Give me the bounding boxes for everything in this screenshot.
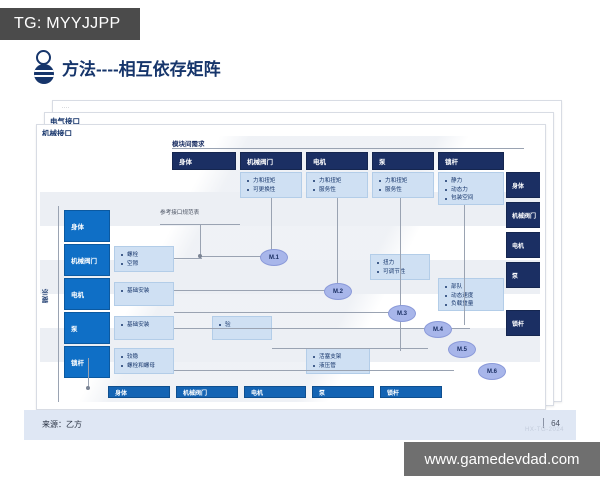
cell-item: 包装空间 (444, 194, 499, 203)
col-header-body[interactable]: 身体 (172, 152, 236, 170)
bottom-header-body[interactable]: 身体 (108, 386, 170, 398)
cell-item: 动态速度 (444, 292, 499, 301)
column-group-title: 模块间需求 (172, 138, 205, 148)
cell-pump-load[interactable]: 部队 动态速度 负载重量 (438, 278, 504, 311)
cell-item: 可更换性 (246, 186, 297, 195)
col-header-valve[interactable]: 机械阀门 (240, 152, 302, 170)
node-m6[interactable]: M.6 (478, 363, 506, 380)
cell-item: 基础安装 (120, 287, 169, 296)
connector-to-m3 (174, 312, 404, 313)
col-header-pump[interactable]: 泵 (372, 152, 434, 170)
row-group-rule (58, 206, 59, 402)
node-m4[interactable]: M.4 (424, 321, 452, 338)
right-header-lock[interactable]: 锁杆 (506, 310, 540, 336)
annotation-leader-drop (200, 224, 201, 258)
column-group-rule (172, 148, 524, 149)
cell-item: 服务性 (312, 186, 363, 195)
right-header-motor[interactable]: 电机 (506, 232, 540, 258)
row-header-body[interactable]: 身体 (64, 210, 110, 242)
interdependency-matrix: 模块间需求 提示 身体 机械阀门 电机 泵 锁杆 力和扭矩 可更换性 力和扭矩 … (40, 136, 540, 402)
logo-disc-shape (34, 64, 54, 84)
node-m3[interactable]: M.3 (388, 305, 416, 322)
cell-item: 部队 (444, 283, 499, 292)
col-header-motor[interactable]: 电机 (306, 152, 368, 170)
node-m1[interactable]: M.1 (260, 249, 288, 266)
bottom-header-motor[interactable]: 电机 (244, 386, 306, 398)
connector-to-m5 (272, 348, 428, 349)
tg-banner: TG: MYYJJPP (0, 8, 140, 40)
cell-valve-requirements[interactable]: 力和扭矩 可更换性 (240, 172, 302, 198)
connector-motor-down (337, 198, 338, 286)
cell-item: 负载重量 (444, 300, 499, 309)
row-header-motor[interactable]: 电机 (64, 278, 110, 310)
cell-item: 动态力 (444, 186, 499, 195)
bottom-header-lock[interactable]: 锁杆 (380, 386, 442, 398)
row-header-pump[interactable]: 泵 (64, 312, 110, 344)
footer-ghost-text: HX-TG-2024 (525, 427, 564, 433)
cell-item: 活塞支架 (312, 353, 365, 362)
connector-to-m2 (174, 290, 342, 291)
cell-item: 空隙 (120, 260, 169, 269)
footer-bar (24, 410, 576, 440)
col-header-lock[interactable]: 锁杆 (438, 152, 504, 170)
cell-item: 基础安装 (120, 321, 169, 330)
logo-ring-shape (36, 50, 51, 65)
cell-item: 力和扭矩 (378, 177, 429, 186)
connector-valve-down (271, 198, 272, 252)
cell-item: 较稳 (120, 353, 169, 362)
bottom-header-valve[interactable]: 机械阀门 (176, 386, 238, 398)
cell-item: 液压管 (312, 362, 365, 371)
node-m5[interactable]: M.5 (448, 341, 476, 358)
cell-body-motor[interactable]: 基础安装 (114, 282, 174, 306)
right-header-pump[interactable]: 泵 (506, 262, 540, 288)
footer-source: 来源：乙方 (42, 419, 82, 430)
row-header-lock[interactable]: 锁杆 (64, 346, 110, 378)
cell-motor-requirements[interactable]: 力和扭矩 服务性 (306, 172, 368, 198)
row-group-title: 提示 (42, 288, 52, 303)
cell-body-pump[interactable]: 基础安装 (114, 316, 174, 340)
card-back-label: .... (62, 104, 70, 110)
connector-pump-down (400, 198, 401, 308)
slide-title-row: 方法----相互依存矩阵 (34, 50, 221, 84)
bottom-left-leader-dot (86, 386, 90, 390)
connector-to-m1 (200, 256, 266, 257)
connector-to-m6 (174, 370, 454, 371)
bottom-left-leader (88, 358, 89, 388)
cell-item: 螺栓和螺母 (120, 362, 169, 371)
cell-item: 力和扭矩 (312, 177, 363, 186)
watermark-text: www.gamedevdad.com (424, 451, 579, 468)
cell-body-lock[interactable]: 较稳 螺栓和螺母 (114, 348, 174, 374)
right-header-body[interactable]: 身体 (506, 172, 540, 198)
cell-lock-requirements[interactable]: 静力 动态力 包装空间 (438, 172, 504, 205)
node-m2[interactable]: M.2 (324, 283, 352, 300)
right-header-valve[interactable]: 机械阀门 (506, 202, 540, 228)
cell-item: 力和扭矩 (246, 177, 297, 186)
cell-item: 静力 (444, 177, 499, 186)
connector-lock-down (464, 205, 465, 325)
site-watermark: www.gamedevdad.com (404, 442, 600, 476)
cell-item: 服务性 (378, 186, 429, 195)
page-title: 方法----相互依存矩阵 (62, 55, 221, 80)
cell-body-valve[interactable]: 螺栓 空隙 (114, 246, 174, 272)
bottom-header-pump[interactable]: 泵 (312, 386, 374, 398)
connector-body-valve (174, 258, 202, 259)
company-logo-icon (34, 50, 54, 84)
tg-banner-text: TG: MYYJJPP (14, 15, 120, 33)
interface-spec-annotation: 参考接口规范表 (160, 208, 199, 216)
cell-item: 螺栓 (120, 251, 169, 260)
cell-pump-requirements[interactable]: 力和扭矩 服务性 (372, 172, 434, 198)
row-header-valve[interactable]: 机械阀门 (64, 244, 110, 276)
